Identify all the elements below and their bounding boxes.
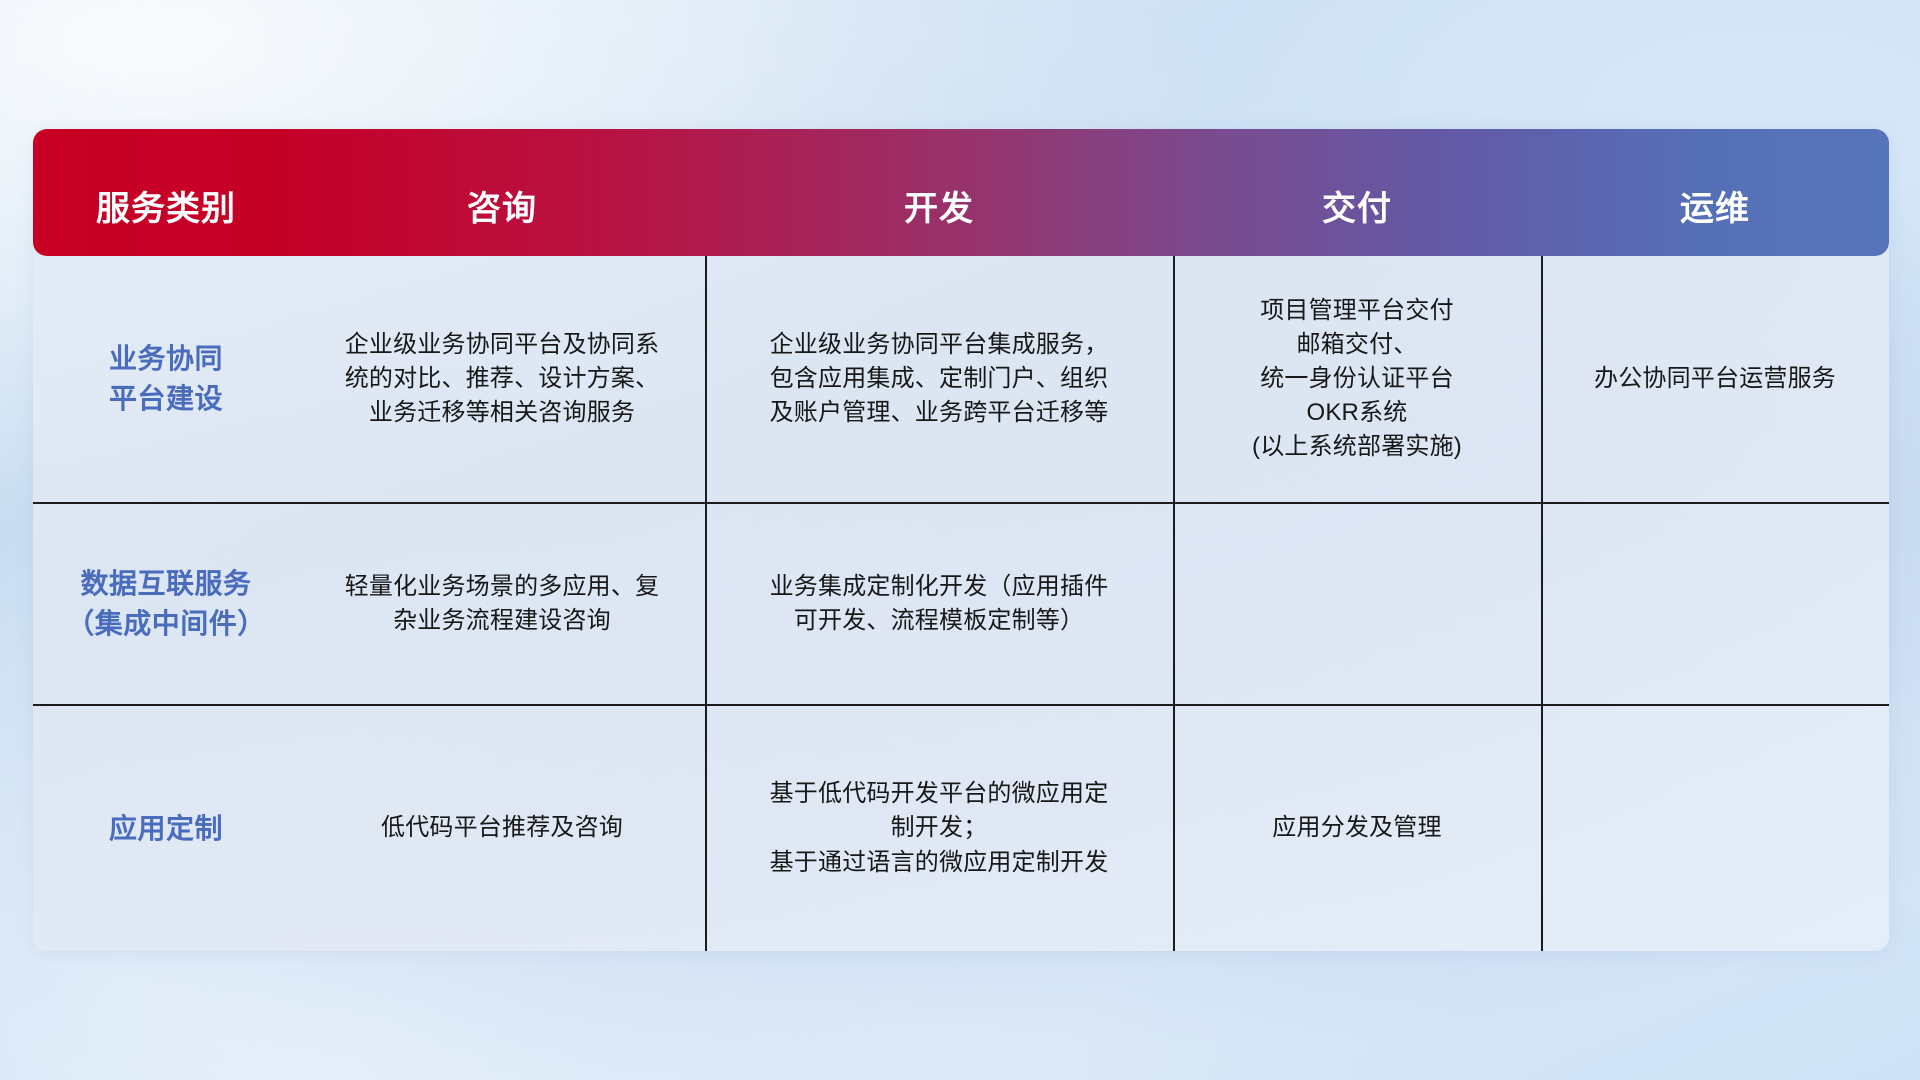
row-2-operations	[1541, 504, 1889, 704]
row-1-delivery: 项目管理平台交付 邮箱交付、 统一身份认证平台 OKR系统 (以上系统部署实施)	[1173, 256, 1541, 502]
row-1-category: 业务协同 平台建设	[33, 256, 299, 502]
row-2-development: 业务集成定制化开发（应用插件 可开发、流程模板定制等）	[705, 504, 1173, 704]
table-row: 数据互联服务 （集成中间件） 轻量化业务场景的多应用、复 杂业务流程建设咨询 业…	[33, 504, 1889, 704]
row-1-consulting: 企业级业务协同平台及协同系 统的对比、推荐、设计方案、 业务迁移等相关咨询服务	[299, 256, 705, 502]
row-2-delivery	[1173, 504, 1541, 704]
row-2-category: 数据互联服务 （集成中间件）	[33, 504, 299, 704]
row-2-consulting: 轻量化业务场景的多应用、复 杂业务流程建设咨询	[299, 504, 705, 704]
row-1-development: 企业级业务协同平台集成服务， 包含应用集成、定制门户、组织 及账户管理、业务跨平…	[705, 256, 1173, 502]
header-cell-development: 开发	[705, 181, 1173, 256]
table-header-row: 服务类别 咨询 开发 交付 运维	[33, 129, 1889, 256]
table-row: 业务协同 平台建设 企业级业务协同平台及协同系 统的对比、推荐、设计方案、 业务…	[33, 256, 1889, 502]
table-row: 应用定制 低代码平台推荐及咨询 基于低代码开发平台的微应用定 制开发； 基于通过…	[33, 706, 1889, 951]
header-cell-consulting: 咨询	[299, 181, 705, 256]
row-1-operations: 办公协同平台运营服务	[1541, 256, 1889, 502]
header-cell-delivery: 交付	[1173, 181, 1541, 256]
table-body: 业务协同 平台建设 企业级业务协同平台及协同系 统的对比、推荐、设计方案、 业务…	[33, 256, 1889, 951]
header-cell-category: 服务类别	[33, 181, 299, 256]
row-3-delivery: 应用分发及管理	[1173, 706, 1541, 951]
row-3-consulting: 低代码平台推荐及咨询	[299, 706, 705, 951]
row-3-operations	[1541, 706, 1889, 951]
row-3-development: 基于低代码开发平台的微应用定 制开发； 基于通过语言的微应用定制开发	[705, 706, 1173, 951]
header-cell-operations: 运维	[1541, 181, 1889, 256]
row-3-category: 应用定制	[33, 706, 299, 951]
